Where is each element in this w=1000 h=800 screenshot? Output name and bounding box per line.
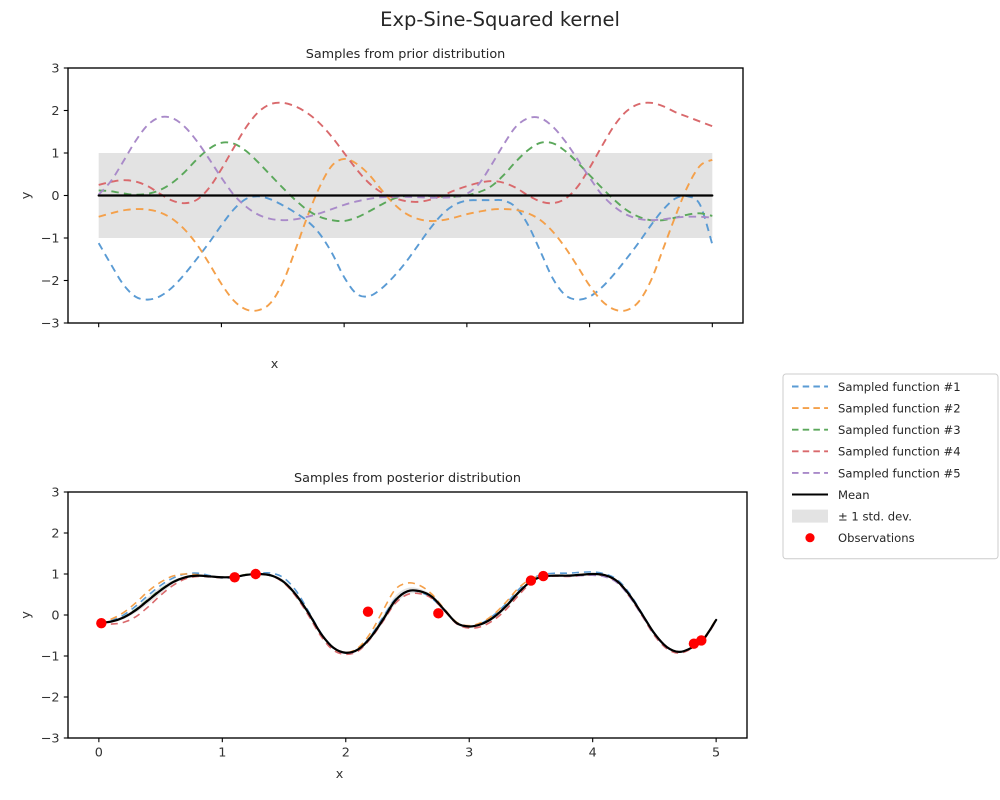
legend-band-swatch-icon <box>792 510 828 523</box>
axes-title-posterior: Samples from posterior distribution <box>294 471 521 486</box>
legend-label: Sampled function #5 <box>838 466 961 480</box>
legend-label: Observations <box>838 531 915 545</box>
sampled-function-5-curve <box>99 574 716 653</box>
y-axis-label-posterior: y <box>19 611 34 619</box>
y-tick-label: 1 <box>51 147 59 162</box>
mean-curve <box>99 574 716 653</box>
y-tick-label: −3 <box>41 732 60 747</box>
x-tick-label: 2 <box>342 746 350 761</box>
x-tick-label: 4 <box>589 746 597 761</box>
legend-circle-dot-icon <box>805 533 814 542</box>
y-tick-label: −2 <box>41 274 60 289</box>
legend[interactable]: Sampled function #1Sampled function #2Sa… <box>783 374 998 559</box>
y-tick-label: −3 <box>41 317 60 332</box>
legend-label: Sampled function #2 <box>838 402 961 416</box>
legend-label: ± 1 std. dev. <box>838 510 912 524</box>
legend-label: Sampled function #4 <box>838 445 961 459</box>
observation-point <box>363 607 373 617</box>
x-tick-label: 3 <box>465 746 473 761</box>
x-tick-label: 1 <box>218 746 226 761</box>
legend-label: Sampled function #3 <box>838 423 961 437</box>
sampled-function-1-curve <box>99 572 716 653</box>
legend-entry[interactable]: ± 1 std. dev. <box>792 510 912 524</box>
y-axis-label-prior: y <box>19 191 34 199</box>
legend-label: Sampled function #1 <box>838 380 961 394</box>
y-tick-label: 0 <box>51 609 59 624</box>
x-tick-label: 5 <box>712 746 720 761</box>
figure-suptitle: Exp-Sine-Squared kernel <box>380 8 620 31</box>
observation-point <box>433 608 443 618</box>
sampled-function-2-curve <box>99 574 716 653</box>
observation-point <box>696 635 706 645</box>
sampled-function-3-curve <box>99 574 716 653</box>
y-tick-label: −1 <box>41 650 60 665</box>
axes-posterior: 012345−3−2−10123Samples from posterior d… <box>19 471 747 782</box>
y-tick-label: 1 <box>51 568 59 583</box>
y-tick-label: 2 <box>51 104 59 119</box>
legend-label: Mean <box>838 488 870 502</box>
x-axis-label-posterior: x <box>336 767 344 782</box>
observation-point <box>538 571 548 581</box>
observation-point <box>96 618 106 628</box>
axes-frame <box>68 492 747 738</box>
observation-point <box>526 575 536 585</box>
y-tick-label: 3 <box>51 62 59 77</box>
axes-title-prior: Samples from prior distribution <box>306 47 506 62</box>
figure-canvas: Exp-Sine-Squared kernel−3−2−10123Samples… <box>0 0 1000 800</box>
y-tick-label: 0 <box>51 189 59 204</box>
observation-point <box>250 569 260 579</box>
x-tick-label: 0 <box>95 746 103 761</box>
y-tick-label: −2 <box>41 691 60 706</box>
y-tick-label: 2 <box>51 527 59 542</box>
observation-point <box>229 572 239 582</box>
x-axis-label-prior: x <box>271 357 279 372</box>
y-tick-label: −1 <box>41 232 60 247</box>
axes-prior: −3−2−10123Samples from prior distributio… <box>19 47 743 372</box>
y-tick-label: 3 <box>51 486 59 501</box>
